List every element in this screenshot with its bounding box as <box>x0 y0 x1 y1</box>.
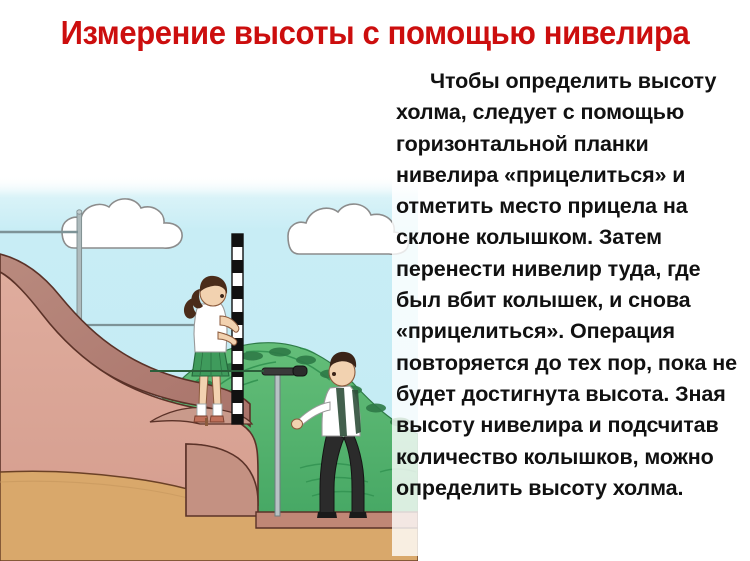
presentation-slide: Измерение высоты с помощью нивелира <box>0 0 750 561</box>
illustration-hill-measurement <box>0 176 418 561</box>
cloud-right <box>288 204 408 254</box>
level-instrument <box>262 366 307 376</box>
scene-graphic <box>0 176 418 561</box>
body-paragraph: Чтобы определить высоту холма, следует с… <box>396 66 742 504</box>
stake-marker <box>205 418 208 426</box>
page-title: Измерение высоты с помощью нивелира <box>23 14 728 52</box>
